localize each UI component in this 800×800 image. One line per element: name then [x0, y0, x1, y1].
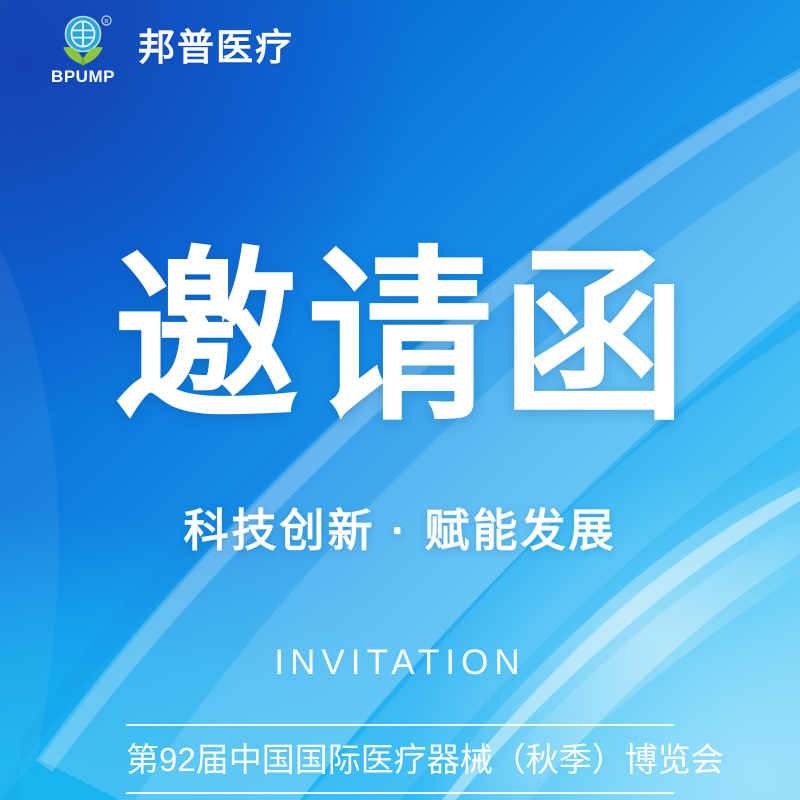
- hero-english-label: INVITATION: [0, 645, 800, 680]
- invitation-poster: R BPUMP 邦普医疗 邀请函 科技创新 · 赋能发展 INVITATION …: [0, 0, 800, 800]
- footer-rule-bottom: [126, 792, 674, 794]
- brand-name: 邦普医疗: [138, 29, 294, 70]
- brand-header: R BPUMP 邦普医疗: [44, 12, 294, 86]
- bpump-logo-icon: R BPUMP: [44, 12, 122, 86]
- hero-title-container: 邀请函: [0, 246, 800, 432]
- footer-block: 第92届中国国际医疗器械（秋季）博览会: [126, 724, 674, 794]
- hero-subtitle: 科技创新 · 赋能发展: [0, 508, 800, 553]
- svg-text:R: R: [104, 19, 109, 25]
- page-title: 邀请函: [105, 246, 695, 432]
- logo-wordmark: BPUMP: [51, 67, 115, 86]
- event-name: 第92届中国国际医疗器械（秋季）博览会: [126, 726, 674, 792]
